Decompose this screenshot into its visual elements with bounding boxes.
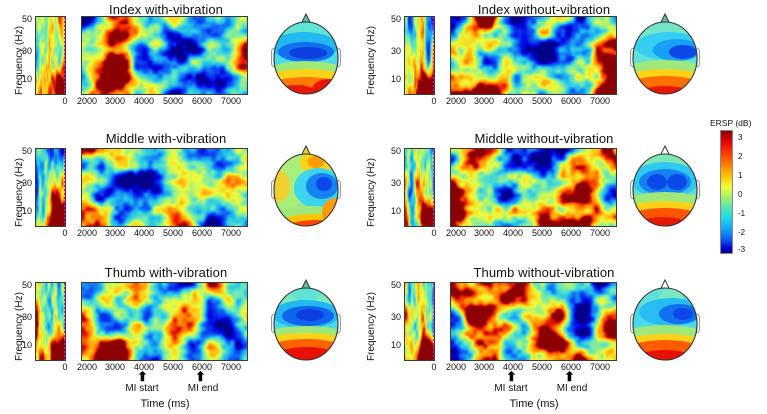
x-tick-7000: 7000 — [216, 96, 246, 106]
ersp-spectrogram — [81, 282, 248, 361]
colorbar-tick-m2: -2 — [738, 228, 745, 237]
colorbar-tick-3: 3 — [738, 133, 742, 142]
x-tick-3000: 3000 — [100, 96, 130, 106]
panel-title: Index with-vibration — [76, 2, 256, 17]
x-tick-3000: 3000 — [100, 362, 130, 372]
topoplot-svg — [625, 8, 705, 100]
y-tick-10: 10 — [385, 206, 401, 216]
x-tick-3000: 3000 — [469, 362, 499, 372]
x-tick-0: 0 — [57, 362, 73, 372]
colorbar-tick-1: 1 — [738, 171, 742, 180]
x-tick-6000: 6000 — [556, 96, 586, 106]
y-tick-10: 10 — [16, 340, 32, 350]
x-tick-0: 0 — [426, 96, 442, 106]
x-tick-6000: 6000 — [556, 228, 586, 238]
topoplot-svg — [625, 274, 705, 366]
baseline-spectrogram — [35, 148, 66, 227]
x-tick-3000: 3000 — [469, 228, 499, 238]
y-tick-10: 10 — [385, 340, 401, 350]
baseline-spectrogram — [404, 282, 435, 361]
ersp-spectrogram — [450, 282, 617, 361]
panel-title: Index without-vibration — [444, 2, 644, 17]
x-tick-7000: 7000 — [585, 228, 615, 238]
mi-start-arrow-icon: ⬆ — [137, 370, 148, 383]
x-axis-label: Time (ms) — [494, 398, 574, 410]
y-tick-10: 10 — [16, 206, 32, 216]
x-tick-4000: 4000 — [129, 96, 159, 106]
x-tick-5000: 5000 — [527, 228, 557, 238]
panel-title: Middle without-vibration — [444, 131, 644, 146]
ersp-spectrogram — [81, 16, 248, 95]
x-tick-0: 0 — [426, 228, 442, 238]
y-tick-30: 30 — [16, 46, 32, 56]
colorbar-title: ERSP (dB) — [710, 118, 751, 128]
y-tick-30: 30 — [16, 312, 32, 322]
colorbar-tick-m1: -1 — [738, 209, 745, 218]
topoplot-svg — [266, 140, 346, 232]
colorbar-gradient — [720, 130, 733, 254]
y-axis-label: Frequency (Hz) — [366, 158, 377, 227]
topoplot-middle-with-vibration — [266, 140, 346, 232]
x-tick-7000: 7000 — [585, 96, 615, 106]
topoplot-svg — [625, 140, 705, 232]
x-tick-4000: 4000 — [129, 228, 159, 238]
mi-end-label: MI end — [542, 383, 602, 394]
x-tick-2000: 2000 — [441, 228, 471, 238]
topoplot-svg — [266, 8, 346, 100]
mi-end-arrow-icon: ⬆ — [564, 370, 575, 383]
baseline-marker-line — [64, 283, 66, 360]
mi-end-label: MI end — [173, 383, 233, 394]
baseline-marker-line — [433, 149, 435, 226]
x-tick-5000: 5000 — [527, 362, 557, 372]
baseline-spectrogram — [404, 148, 435, 227]
x-tick-2000: 2000 — [441, 96, 471, 106]
topoplot-thumb-with-vibration — [266, 274, 346, 366]
topoplot-index-with-vibration — [266, 8, 346, 100]
y-tick-10: 10 — [385, 74, 401, 84]
topoplot-svg — [266, 274, 346, 366]
x-tick-0: 0 — [57, 228, 73, 238]
x-axis-label: Time (ms) — [125, 398, 205, 410]
y-axis-label: Frequency (Hz) — [14, 158, 25, 227]
panel-title: Middle with-vibration — [76, 131, 256, 146]
x-tick-5000: 5000 — [158, 96, 188, 106]
x-tick-2000: 2000 — [441, 362, 471, 372]
panel-title: Thumb with-vibration — [76, 265, 256, 280]
topoplot-middle-without-vibration — [625, 140, 705, 232]
colorbar-tick-2: 2 — [738, 152, 742, 161]
y-axis-label: Frequency (Hz) — [14, 292, 25, 361]
mi-start-arrow-icon: ⬆ — [506, 370, 517, 383]
mi-start-label: MI start — [112, 383, 172, 394]
baseline-spectrogram — [35, 16, 66, 95]
ersp-spectrogram — [450, 16, 617, 95]
baseline-marker-line — [433, 283, 435, 360]
x-tick-2000: 2000 — [72, 362, 102, 372]
x-tick-5000: 5000 — [158, 362, 188, 372]
colorbar-tick-m3: -3 — [738, 245, 745, 254]
x-tick-7000: 7000 — [585, 362, 615, 372]
baseline-marker-line — [64, 17, 66, 94]
x-tick-6000: 6000 — [187, 96, 217, 106]
y-tick-50: 50 — [16, 280, 32, 290]
mi-end-arrow-icon: ⬆ — [195, 370, 206, 383]
y-tick-10: 10 — [16, 74, 32, 84]
x-tick-4000: 4000 — [498, 228, 528, 238]
x-tick-7000: 7000 — [216, 228, 246, 238]
x-tick-4000: 4000 — [498, 96, 528, 106]
x-tick-0: 0 — [426, 362, 442, 372]
ersp-spectrogram — [450, 148, 617, 227]
topoplot-thumb-without-vibration — [625, 274, 705, 366]
y-axis-label: Frequency (Hz) — [366, 292, 377, 361]
y-tick-30: 30 — [385, 46, 401, 56]
x-tick-3000: 3000 — [100, 228, 130, 238]
x-tick-5000: 5000 — [158, 228, 188, 238]
y-tick-30: 30 — [16, 178, 32, 188]
baseline-marker-line — [64, 149, 66, 226]
x-tick-0: 0 — [57, 96, 73, 106]
y-tick-50: 50 — [16, 146, 32, 156]
baseline-marker-line — [433, 17, 435, 94]
y-tick-50: 50 — [16, 14, 32, 24]
mi-start-label: MI start — [481, 383, 541, 394]
panel-title: Thumb without-vibration — [444, 265, 644, 280]
y-tick-50: 50 — [385, 280, 401, 290]
baseline-spectrogram — [35, 282, 66, 361]
y-tick-30: 30 — [385, 312, 401, 322]
x-tick-7000: 7000 — [216, 362, 246, 372]
y-tick-30: 30 — [385, 178, 401, 188]
y-tick-50: 50 — [385, 146, 401, 156]
x-tick-2000: 2000 — [72, 96, 102, 106]
x-tick-2000: 2000 — [72, 228, 102, 238]
x-tick-3000: 3000 — [469, 96, 499, 106]
baseline-spectrogram — [404, 16, 435, 95]
colorbar-tick-0: 0 — [738, 190, 742, 199]
topoplot-index-without-vibration — [625, 8, 705, 100]
y-tick-50: 50 — [385, 14, 401, 24]
x-tick-6000: 6000 — [187, 228, 217, 238]
ersp-spectrogram — [81, 148, 248, 227]
ersp-figure: Index with-vibration Frequency (Hz) 50 3… — [0, 0, 767, 414]
y-axis-label: Frequency (Hz) — [366, 26, 377, 95]
y-axis-label: Frequency (Hz) — [14, 26, 25, 95]
x-tick-5000: 5000 — [527, 96, 557, 106]
